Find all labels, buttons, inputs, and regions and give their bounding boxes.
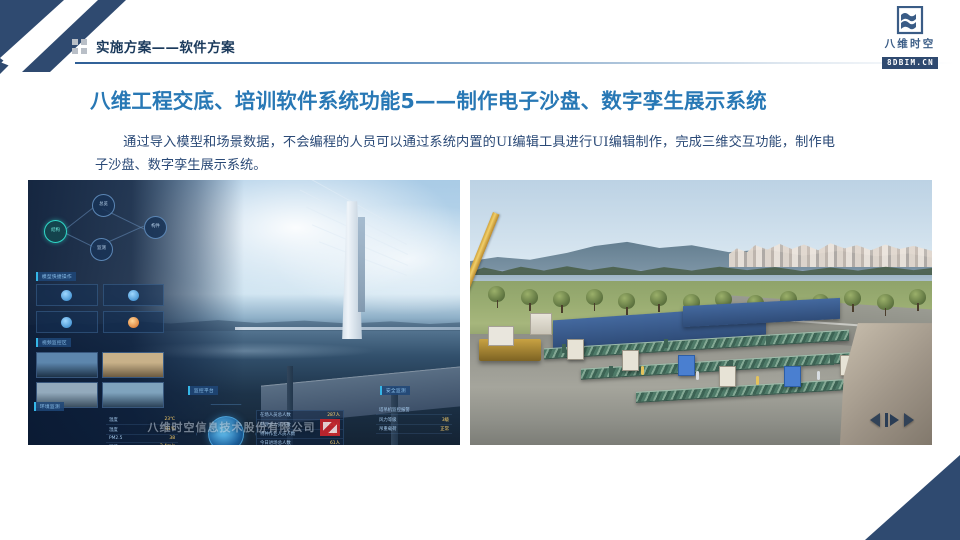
quick-op-personnel[interactable] (36, 284, 98, 306)
panel-header-quick-ops: 模型快捷操作 (36, 272, 76, 281)
header-divider (75, 62, 955, 64)
brand-mark-icon (895, 6, 925, 36)
env-label: 湿度 (109, 427, 118, 433)
corner-decoration-bottom-right (865, 455, 960, 540)
page-title: 八维工程交底、培训软件系统功能5——制作电子沙盘、数字孪生展示系统 (90, 84, 930, 114)
watermark-logo-icon (320, 419, 340, 436)
alarm-label: 风力等级 (379, 417, 397, 423)
camera-icon (61, 317, 72, 328)
render-worker (817, 371, 820, 380)
panel-header-monitor-platform: 监控平台 (188, 386, 218, 395)
render-building (530, 313, 552, 335)
video-thumb-grid[interactable] (36, 352, 164, 408)
body-text: 通过导入模型和场景数据，不会编程的人员可以通过系统内置的UI编辑工具进行UI编辑… (95, 135, 835, 173)
playback-controls[interactable] (870, 413, 914, 427)
render-tree (909, 289, 926, 311)
alert-icon (128, 317, 139, 328)
video-thumbnail[interactable] (102, 352, 164, 378)
node-graph-item[interactable]: 构件 (144, 216, 167, 239)
node-label: 构件 (151, 225, 160, 230)
render-tree (618, 293, 635, 315)
stat-label: 今日进场总人数 (260, 440, 291, 445)
video-thumbnail[interactable] (102, 382, 164, 408)
table-row: 今日进场总人数61人 (257, 439, 343, 445)
video-thumbnail[interactable] (36, 352, 98, 378)
render-tree (521, 289, 538, 311)
watermark: 八维时空信息技术股份有限公司 (132, 414, 357, 440)
env-value: 2.4m/s (160, 444, 175, 445)
bridge-pylon-opening (358, 217, 365, 312)
render-display-board (622, 350, 639, 371)
screenshot-digital-twin-render[interactable] (470, 180, 932, 445)
brand-logo: 八维时空 8DBIM.CN (873, 6, 947, 69)
render-worker (696, 371, 699, 380)
cube-icon (128, 290, 139, 301)
body-paragraph: 通过导入模型和场景数据，不会编程的人员可以通过系统内置的UI编辑工具进行UI编辑… (95, 131, 835, 177)
node-label: 总览 (99, 203, 108, 208)
node-graph-item[interactable]: 监测 (90, 238, 113, 261)
alarm-label: 吊重载荷 (379, 426, 397, 432)
thumb-image (103, 353, 163, 377)
slide-root: 实施方案——软件方案 八维工程交底、培训软件系统功能5——制作电子沙盘、数字孪生… (0, 0, 960, 540)
node-edge (64, 208, 93, 231)
render-truss-leg (562, 344, 566, 353)
watermark-text: 八维时空信息技术股份有限公司 (147, 419, 315, 435)
render-truss-leg (830, 355, 834, 365)
render-truss-leg (664, 339, 668, 348)
table-row: 塔吊机监控报警 (376, 406, 452, 415)
panel-header-safety: 安全监测 (380, 386, 410, 395)
render-truss-leg (609, 366, 613, 376)
env-label: 温度 (109, 417, 118, 423)
alarm-value: 3级 (442, 417, 449, 423)
brand-name: 八维时空 (873, 38, 947, 50)
render-tree (553, 291, 570, 313)
screenshot-electronic-sandtable[interactable]: 结构 总览 监测 构件 模型快捷操作 视频监控区 环境 (28, 180, 460, 445)
breadcrumb-label: 实施方案——软件方案 (96, 36, 235, 56)
node-label: 监测 (97, 247, 106, 252)
panel-header-video: 视频监控区 (36, 338, 71, 347)
pause-play-icon[interactable] (885, 413, 899, 427)
render-display-board (678, 355, 695, 376)
render-worker (641, 366, 644, 375)
render-tree (586, 289, 603, 311)
render-tree (844, 290, 861, 312)
quick-op-model[interactable] (103, 284, 165, 306)
node-graph-item[interactable]: 总览 (92, 194, 115, 217)
table-row: 风力等级3级 (376, 415, 452, 424)
thumb-image (103, 383, 163, 407)
node-graph[interactable]: 结构 总览 监测 构件 (34, 188, 224, 266)
env-label: 风速 (109, 444, 118, 445)
thumb-image (37, 353, 97, 377)
alarm-list: 塔吊机监控报警 风力等级3级 吊重载荷正常 (376, 406, 452, 434)
stat-value: 61人 (330, 440, 340, 445)
node-graph-item[interactable]: 结构 (44, 220, 67, 243)
quick-op-camera[interactable] (36, 311, 98, 333)
render-crane-cab (488, 326, 514, 346)
quick-op-grid[interactable] (36, 284, 164, 333)
play-previous-icon[interactable] (870, 413, 880, 427)
render-truss-leg (766, 336, 770, 345)
panel-header-environment: 环境监测 (34, 402, 64, 411)
render-display-board (719, 366, 736, 387)
render-tree (650, 290, 667, 312)
quick-op-alert[interactable] (103, 311, 165, 333)
table-row: 吊重载荷正常 (376, 425, 452, 434)
table-row: 风速2.4m/s (106, 443, 178, 445)
brand-domain: 8DBIM.CN (882, 57, 938, 69)
alarm-label: 塔吊机监控报警 (379, 407, 410, 413)
dot-grid-icon (72, 39, 87, 54)
render-display-board (567, 339, 584, 360)
breadcrumb: 实施方案——软件方案 (72, 36, 235, 56)
render-tree (877, 294, 894, 316)
play-next-icon[interactable] (904, 413, 914, 427)
person-icon (61, 290, 72, 301)
node-label: 结构 (51, 229, 60, 234)
alarm-value: 正常 (440, 426, 449, 432)
render-display-board (784, 366, 801, 387)
env-label: PM2.5 (109, 436, 122, 441)
render-tree (488, 286, 505, 308)
